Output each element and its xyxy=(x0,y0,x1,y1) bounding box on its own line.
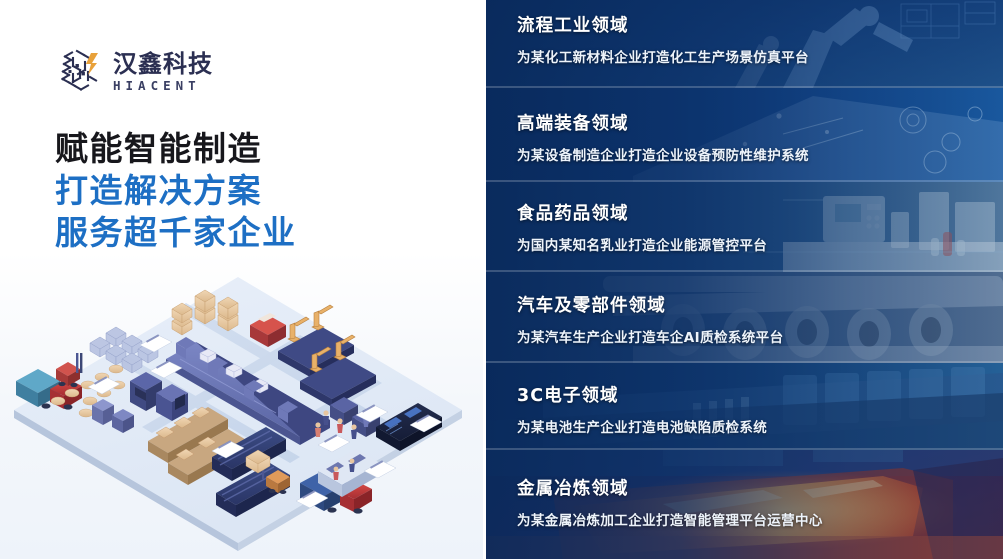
hexagon-circuit-logo-icon xyxy=(55,47,102,97)
sector-title: 金属冶炼领域 xyxy=(517,475,989,500)
sector-subtitle: 为某汽车生产企业打造车企AI质检系统平台 xyxy=(517,326,989,346)
sector-title: 高端装备领域 xyxy=(517,110,989,135)
sector-subtitle: 为国内某知名乳业打造企业能源管控平台 xyxy=(517,234,989,254)
brand-wordmark: 汉鑫科技 HIACENT xyxy=(113,52,213,93)
company-logo[interactable]: 汉鑫科技 HIACENT xyxy=(55,47,213,97)
sector-band-3c-electronics[interactable]: 3C电子领域 为某电池生产企业打造电池缺陷质检系统 xyxy=(483,363,1003,450)
sector-band-high-end-equipment[interactable]: 高端装备领域 为某设备制造企业打造企业设备预防性维护系统 xyxy=(483,88,1003,182)
sector-subtitle: 为某金属冶炼加工企业打造智能管理平台运营中心 xyxy=(517,509,989,529)
sector-title: 食品药品领域 xyxy=(517,200,989,225)
sector-subtitle: 为某电池生产企业打造电池缺陷质检系统 xyxy=(517,416,989,436)
sector-band-metal-smelting[interactable]: 金属冶炼领域 为某金属冶炼加工企业打造智能管理平台运营中心 xyxy=(483,450,1003,559)
marketing-slide: 汉鑫科技 HIACENT 赋能智能制造 打造解决方案 服务超千家企业 xyxy=(0,0,1003,559)
sector-band-process-industry[interactable]: 流程工业领域 为某化工新材料企业打造化工生产场景仿真平台 xyxy=(483,0,1003,88)
sector-subtitle: 为某设备制造企业打造企业设备预防性维护系统 xyxy=(517,144,989,164)
sector-title: 3C电子领域 xyxy=(517,382,989,407)
sector-copy: 食品药品领域 为国内某知名乳业打造企业能源管控平台 xyxy=(517,200,989,254)
headline-line-2: 打造解决方案 xyxy=(55,170,297,212)
brand-name-cn: 汉鑫科技 xyxy=(113,52,213,76)
pane-left-edge xyxy=(483,0,486,559)
sector-subtitle: 为某化工新材料企业打造化工生产场景仿真平台 xyxy=(517,46,989,66)
isometric-smart-factory-illustration xyxy=(0,255,483,559)
page-title: 赋能智能制造 打造解决方案 服务超千家企业 xyxy=(55,128,297,255)
sector-copy: 高端装备领域 为某设备制造企业打造企业设备预防性维护系统 xyxy=(517,110,989,164)
sector-showcase-pane: 流程工业领域 为某化工新材料企业打造化工生产场景仿真平台 xyxy=(483,0,1003,559)
sector-copy: 汽车及零部件领域 为某汽车生产企业打造车企AI质检系统平台 xyxy=(517,292,989,346)
headline-line-3: 服务超千家企业 xyxy=(55,212,297,254)
sector-copy: 流程工业领域 为某化工新材料企业打造化工生产场景仿真平台 xyxy=(517,12,989,66)
sector-band-automotive-parts[interactable]: 汽车及零部件领域 为某汽车生产企业打造车企AI质检系统平台 xyxy=(483,272,1003,363)
sector-copy: 3C电子领域 为某电池生产企业打造电池缺陷质检系统 xyxy=(517,382,989,436)
sector-title: 流程工业领域 xyxy=(517,12,989,37)
headline-line-1: 赋能智能制造 xyxy=(55,128,297,170)
sector-title: 汽车及零部件领域 xyxy=(517,292,989,317)
left-content-pane: 汉鑫科技 HIACENT 赋能智能制造 打造解决方案 服务超千家企业 xyxy=(0,0,483,559)
sector-band-food-pharma[interactable]: 食品药品领域 为国内某知名乳业打造企业能源管控平台 xyxy=(483,182,1003,272)
sector-copy: 金属冶炼领域 为某金属冶炼加工企业打造智能管理平台运营中心 xyxy=(517,475,989,529)
brand-name-en: HIACENT xyxy=(113,80,213,93)
